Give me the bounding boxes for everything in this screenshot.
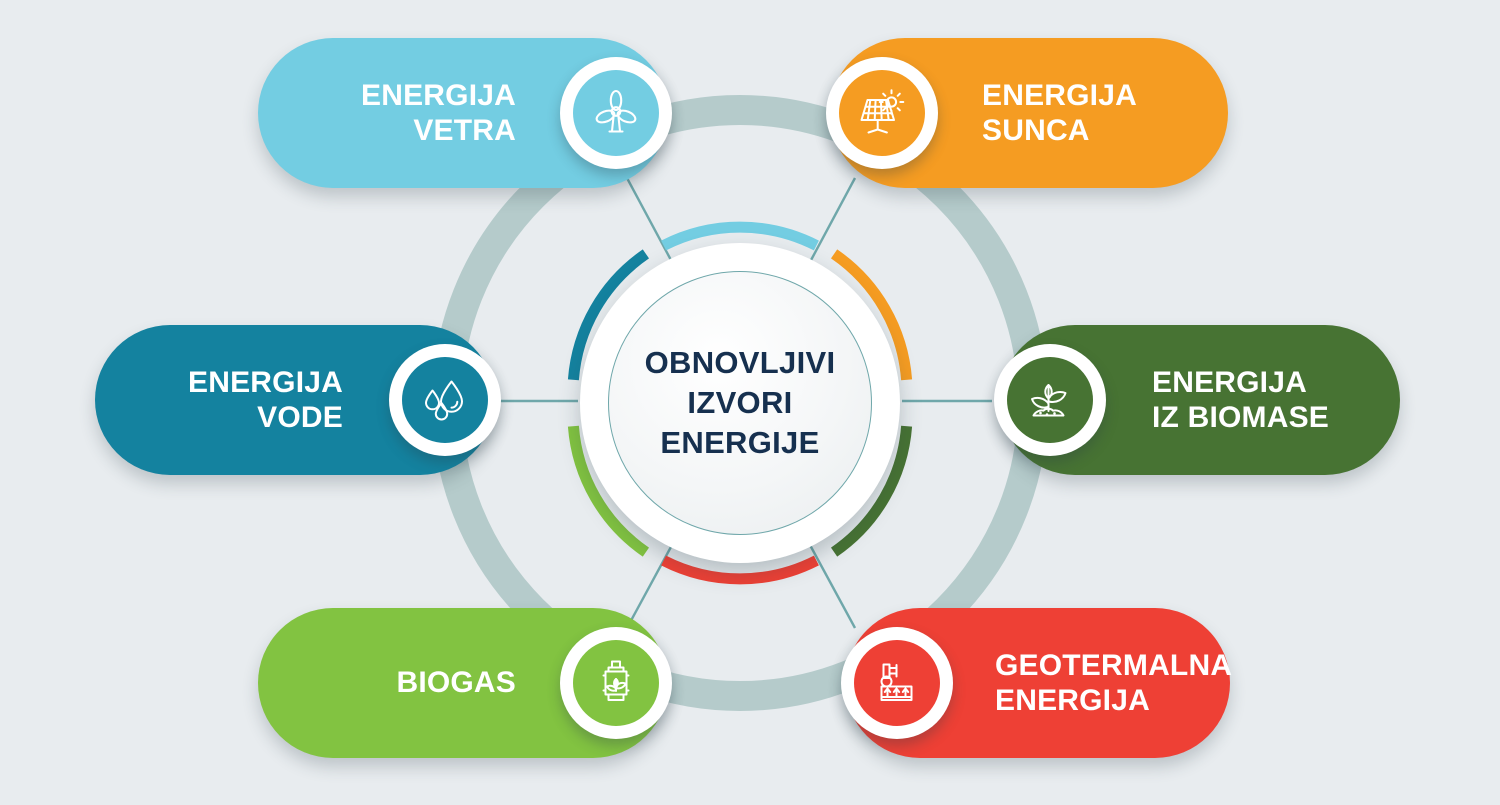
connector-line-wind (627, 178, 672, 262)
node-solar-label: ENERGIJA SUNCA (982, 78, 1137, 149)
solar-panel-icon (855, 86, 909, 140)
node-geothermal-icon-disc (854, 640, 940, 726)
connector-line-geothermal (810, 545, 855, 628)
node-biomass-icon-badge[interactable] (994, 344, 1106, 456)
connector-line-solar (810, 178, 855, 262)
node-biogas-label: BIOGAS (396, 665, 516, 700)
node-geothermal-label: GEOTERMALNA ENERGIJA (995, 648, 1232, 719)
node-solar-icon-disc (839, 70, 925, 156)
node-wind-label: ENERGIJA VETRA (361, 78, 516, 149)
node-geothermal-icon-badge[interactable] (841, 627, 953, 739)
node-water-label: ENERGIJA VODE (188, 365, 343, 436)
page-title: OBNOVLJIVI IZVORI ENERGIJE (645, 343, 836, 464)
seedling-icon (1023, 373, 1077, 427)
node-water[interactable]: ENERGIJA VODE (95, 325, 495, 475)
node-biogas-icon-badge[interactable] (560, 627, 672, 739)
renewable-energy-diagram: OBNOVLJIVI IZVORI ENERGIJE ENERGIJA VETR… (0, 0, 1500, 805)
node-biogas-icon-disc (573, 640, 659, 726)
node-biomass-label: ENERGIJA IZ BIOMASE (1152, 365, 1329, 436)
node-wind[interactable]: ENERGIJA VETRA (258, 38, 668, 188)
arc-geothermal (664, 561, 817, 579)
gas-cylinder-icon (589, 656, 643, 710)
node-water-icon-disc (402, 357, 488, 443)
node-biomass[interactable]: ENERGIJA IZ BIOMASE (1000, 325, 1400, 475)
node-solar-icon-badge[interactable] (826, 57, 938, 169)
node-geothermal[interactable]: GEOTERMALNA ENERGIJA (845, 608, 1230, 758)
center-hub: OBNOVLJIVI IZVORI ENERGIJE (580, 243, 900, 563)
node-wind-icon-badge[interactable] (560, 57, 672, 169)
geothermal-plant-icon (870, 656, 924, 710)
node-wind-icon-disc (573, 70, 659, 156)
center-hub-inner: OBNOVLJIVI IZVORI ENERGIJE (608, 271, 872, 535)
wind-turbine-icon (589, 86, 643, 140)
node-water-icon-badge[interactable] (389, 344, 501, 456)
node-solar[interactable]: ENERGIJA SUNCA (830, 38, 1228, 188)
node-biogas[interactable]: BIOGAS (258, 608, 668, 758)
water-drops-icon (418, 373, 472, 427)
node-biomass-icon-disc (1007, 357, 1093, 443)
